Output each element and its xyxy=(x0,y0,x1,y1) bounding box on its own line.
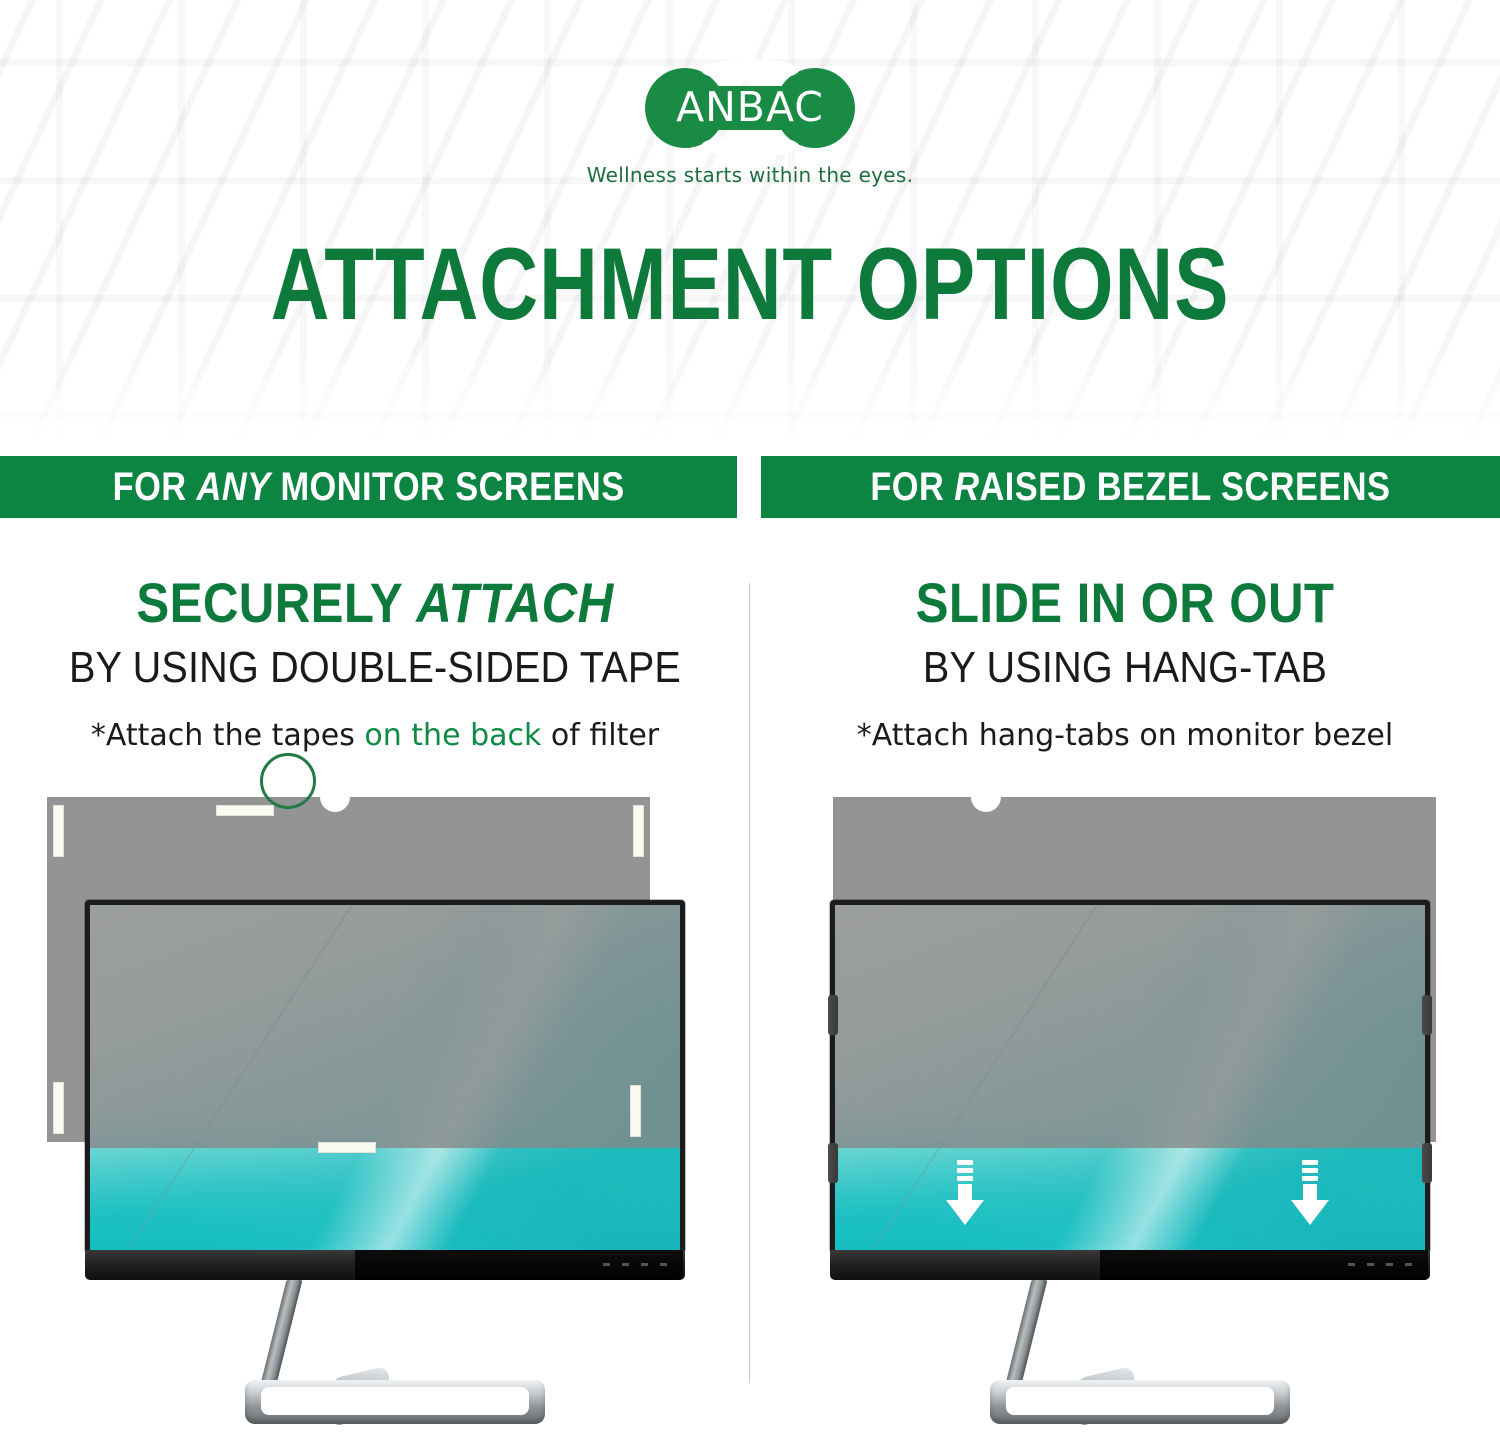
brand-logo-block: ANBAC Wellness starts within the eyes. xyxy=(0,68,1500,187)
left-subheading: BY USING DOUBLE-SIDED TAPE xyxy=(38,643,713,693)
tape-strip-top-center xyxy=(216,805,274,816)
tape-strip-top-right xyxy=(633,805,644,857)
tape-strip-screen-bottom xyxy=(318,1142,376,1153)
hang-tab-upper-left xyxy=(828,995,838,1035)
notch-highlight-ring xyxy=(260,753,316,809)
column-left: SECURELY ATTACH BY USING DOUBLE-SIDED TA… xyxy=(0,573,750,753)
hdr-left-part2: MONITOR SCREENS xyxy=(270,465,624,509)
tape-strip-bottom-left xyxy=(53,1082,64,1134)
arrow-head xyxy=(1291,1200,1329,1225)
hdr-left-part1: FOR xyxy=(113,465,197,509)
tape-strip-screen-right xyxy=(630,1085,641,1137)
monitor-stand-left xyxy=(85,1280,685,1430)
arrow-bar xyxy=(1302,1168,1318,1173)
section-header-text-left: FOR ANY MONITOR SCREENS xyxy=(113,465,625,510)
right-note-part1: *Attach hang-tabs on monitor bezel xyxy=(857,718,1393,753)
control-button[interactable] xyxy=(603,1263,610,1266)
left-heading: SECURELY ATTACH xyxy=(45,573,705,633)
control-button[interactable] xyxy=(641,1263,648,1266)
left-note: *Attach the tapes on the back of filter xyxy=(0,719,750,753)
section-header-text-right: FOR RAISED BEZEL SCREENS xyxy=(870,465,1390,510)
hdr-right-part1: FOR xyxy=(870,465,954,509)
logo-pinch-top xyxy=(701,59,799,81)
hdr-right-italic: R xyxy=(954,465,979,509)
filter-dim-overlay-right xyxy=(835,905,1425,1148)
stand-base-left xyxy=(245,1380,545,1424)
left-heading-part1: SECURELY xyxy=(136,571,416,634)
stand-neck-right xyxy=(1005,1280,1048,1388)
control-button[interactable] xyxy=(1348,1263,1355,1266)
filter-dim-overlay-left xyxy=(90,905,680,1148)
arrow-head xyxy=(946,1200,984,1225)
stand-base-inner-left xyxy=(261,1387,529,1415)
monitor-controls-left[interactable] xyxy=(603,1263,667,1266)
hdr-left-italic: ANY xyxy=(196,465,270,509)
left-heading-italic: ATTACH xyxy=(416,571,613,634)
page-title: ATTACHMENT OPTIONS xyxy=(150,233,1350,335)
webcam-notch-left xyxy=(320,796,350,812)
webcam-notch-right xyxy=(971,796,1001,812)
control-button[interactable] xyxy=(622,1263,629,1266)
monitor-bezel-right xyxy=(830,900,1430,1250)
right-heading-part1: SLIDE IN OR OUT xyxy=(916,571,1335,634)
logo-wordmark: ANBAC xyxy=(645,87,855,128)
hang-tab-lower-right xyxy=(1422,1143,1432,1183)
tape-strip-top-left xyxy=(53,805,64,857)
stand-base-right xyxy=(990,1380,1290,1424)
arrow-bar xyxy=(1302,1160,1318,1165)
control-button[interactable] xyxy=(1386,1263,1393,1266)
slide-down-arrow-right xyxy=(1290,1160,1330,1226)
slide-down-arrow-left xyxy=(945,1160,985,1226)
hdr-right-part2: AISED BEZEL SCREENS xyxy=(980,465,1391,509)
control-button[interactable] xyxy=(1405,1263,1412,1266)
control-button[interactable] xyxy=(660,1263,667,1266)
arrow-bar xyxy=(1302,1176,1318,1181)
arrow-bar xyxy=(957,1176,973,1181)
stand-neck-left xyxy=(260,1280,303,1388)
monitor-right xyxy=(830,900,1430,1430)
anbac-logo-icon: ANBAC xyxy=(645,68,855,148)
monitor-screen-right xyxy=(835,905,1425,1250)
monitor-stand-right xyxy=(830,1280,1430,1430)
section-header-bar-left: FOR ANY MONITOR SCREENS xyxy=(0,456,737,518)
hang-tab-upper-right xyxy=(1422,995,1432,1035)
monitor-controls-right[interactable] xyxy=(1348,1263,1412,1266)
monitor-left xyxy=(85,900,685,1430)
left-note-part2: of filter xyxy=(541,718,659,753)
right-heading: SLIDE IN OR OUT xyxy=(795,573,1455,633)
monitor-chin-left xyxy=(85,1250,685,1280)
right-subheading: BY USING HANG-TAB xyxy=(788,643,1463,693)
left-note-highlight: on the back xyxy=(364,718,541,753)
monitor-screen-left xyxy=(90,905,680,1250)
logo-pinch-bottom xyxy=(701,135,799,157)
left-note-part1: *Attach the tapes xyxy=(91,718,365,753)
brand-tagline: Wellness starts within the eyes. xyxy=(0,163,1500,187)
section-header-bar-right: FOR RAISED BEZEL SCREENS xyxy=(761,456,1500,518)
monitor-bezel-left xyxy=(85,900,685,1250)
stand-base-inner-right xyxy=(1006,1387,1274,1415)
arrow-bar xyxy=(957,1168,973,1173)
arrow-bar xyxy=(957,1160,973,1165)
control-button[interactable] xyxy=(1367,1263,1374,1266)
monitor-chin-right xyxy=(830,1250,1430,1280)
hang-tab-lower-left xyxy=(828,1143,838,1183)
right-note: *Attach hang-tabs on monitor bezel xyxy=(750,719,1500,753)
illustration-right xyxy=(750,775,1500,1405)
illustration-left xyxy=(0,775,750,1405)
column-right: SLIDE IN OR OUT BY USING HANG-TAB *Attac… xyxy=(750,573,1500,753)
